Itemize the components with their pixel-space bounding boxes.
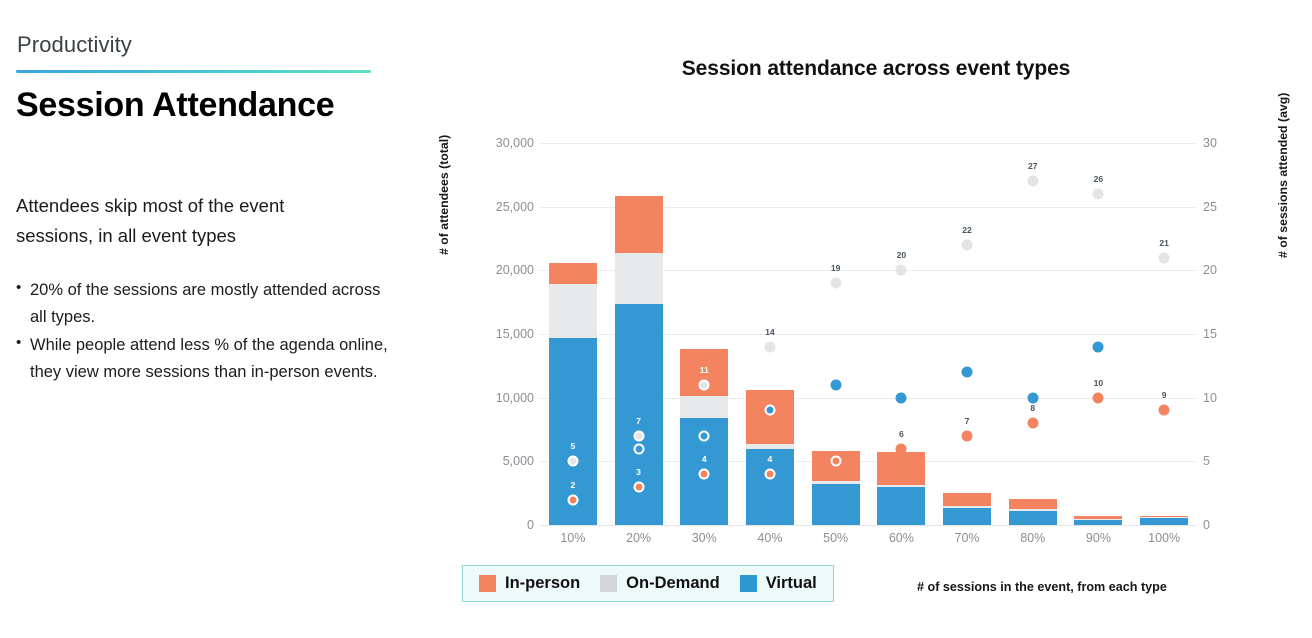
scatter-dot-in-person[interactable] [567,494,578,505]
y-axis-right-tick-label: 5 [1203,454,1210,468]
bar-segment-on-demand[interactable] [746,444,794,449]
x-axis-tick-label: 50% [823,531,848,545]
scatter-dot-in-person[interactable] [1159,405,1170,416]
scatter-value-label: 2 [570,480,575,490]
slide-left-panel: Productivity Session Attendance Attendee… [0,0,440,638]
legend-item-on-demand[interactable]: On-Demand [600,574,720,593]
bar-segment-in-person[interactable] [746,390,794,443]
scatter-dot-virtual[interactable] [962,367,973,378]
bar-segment-on-demand[interactable] [1140,517,1188,518]
slide-subheadline: Attendees skip most of the event session… [16,191,356,251]
bar-segment-virtual[interactable] [877,487,925,525]
bar-segment-in-person[interactable] [877,452,925,484]
scatter-value-label: 4 [768,454,773,464]
scatter-dot-virtual[interactable] [764,405,775,416]
scatter-dot-on-demand[interactable] [699,379,710,390]
bar-segment-in-person[interactable] [943,493,991,506]
scatter-dot-in-person[interactable] [830,456,841,467]
y-axis-left-tick-label: 30,000 [496,136,534,150]
chart-panel: Session attendance across event types # … [440,0,1312,638]
accent-rule-divider [16,70,371,73]
y-axis-right-tick-label: 0 [1203,518,1210,532]
x-axis-tick-label: 20% [626,531,651,545]
y-axis-left-ticks: 05,00010,00015,00020,00025,00030,000 [440,143,534,525]
bar-segment-on-demand[interactable] [680,396,728,418]
x-axis-tick-label: 60% [889,531,914,545]
chart-legend[interactable]: In-personOn-DemandVirtual [462,565,834,602]
legend-item-in-person[interactable]: In-person [479,574,580,593]
bar-segment-in-person[interactable] [1140,516,1188,517]
y-axis-right-tick-label: 10 [1203,391,1217,405]
y-axis-left-tick-label: 0 [527,518,534,532]
scatter-dot-in-person[interactable] [962,430,973,441]
scatter-dot-on-demand[interactable] [896,265,907,276]
scatter-dot-in-person[interactable] [633,481,644,492]
scatter-dot-virtual[interactable] [1027,392,1038,403]
scatter-dot-virtual[interactable] [699,430,710,441]
scatter-dot-in-person[interactable] [896,443,907,454]
scatter-dot-virtual[interactable] [633,443,644,454]
y-axis-right-tick-label: 30 [1203,136,1217,150]
scatter-value-label: 20 [897,250,907,260]
legend-swatch-icon [740,575,757,592]
bar-segment-on-demand[interactable] [812,481,860,484]
scatter-value-label: 10 [1094,378,1104,388]
scatter-dot-in-person[interactable] [764,469,775,480]
y-axis-right-title: # of sessions attended (avg) [1276,78,1290,258]
scatter-value-label: 7 [636,416,641,426]
y-axis-left-tick-label: 5,000 [503,454,534,468]
bar-segment-in-person[interactable] [549,263,597,284]
legend-swatch-icon [479,575,496,592]
bar-segment-on-demand[interactable] [1074,519,1122,520]
legend-item-label: On-Demand [626,574,720,593]
x-axis-tick-label: 100% [1148,531,1180,545]
scatter-series-note: # of sessions in the event, from each ty… [917,580,1167,594]
scatter-value-label: 4 [702,454,707,464]
stacked-bar[interactable] [812,143,860,525]
bar-segment-on-demand[interactable] [1009,509,1057,511]
x-axis-tick-label: 90% [1086,531,1111,545]
scatter-value-label: 26 [1094,174,1104,184]
scatter-dot-on-demand[interactable] [962,239,973,250]
legend-item-label: In-person [505,574,580,593]
bar-segment-virtual[interactable] [1074,520,1122,525]
bar-segment-virtual[interactable] [943,508,991,525]
stacked-bar[interactable] [943,143,991,525]
stacked-bar[interactable] [549,143,597,525]
stacked-bar[interactable] [1140,143,1188,525]
x-axis-tick-label: 30% [692,531,717,545]
legend-item-virtual[interactable]: Virtual [740,574,817,593]
bar-segment-on-demand[interactable] [549,284,597,337]
stacked-bar[interactable] [877,143,925,525]
bar-segment-on-demand[interactable] [615,253,663,305]
scatter-value-label: 3 [636,467,641,477]
x-axis-tick-label: 80% [1020,531,1045,545]
scatter-value-label: 27 [1028,161,1038,171]
y-axis-right-tick-label: 15 [1203,327,1217,341]
y-axis-left-tick-label: 20,000 [496,263,534,277]
bar-segment-in-person[interactable] [615,196,663,253]
page-title: Session Attendance [16,86,412,125]
bar-segment-on-demand[interactable] [943,506,991,508]
bar-segment-in-person[interactable] [1074,516,1122,519]
scatter-value-label: 19 [831,263,841,273]
scatter-dot-on-demand[interactable] [830,278,841,289]
gridline [540,525,1197,526]
scatter-value-label: 8 [1030,403,1035,413]
scatter-dot-in-person[interactable] [699,469,710,480]
scatter-dot-in-person[interactable] [1093,392,1104,403]
scatter-dot-on-demand[interactable] [1027,176,1038,187]
bar-segment-virtual[interactable] [812,484,860,525]
plot-area: 23445678109571114192022272621 10%20%30%4… [540,143,1197,525]
slide-eyebrow: Productivity [17,32,412,58]
scatter-dot-on-demand[interactable] [1159,252,1170,263]
scatter-value-label: 11 [700,365,709,375]
scatter-dot-virtual[interactable] [896,392,907,403]
x-axis-tick-label: 10% [560,531,585,545]
scatter-value-label: 5 [570,441,575,451]
y-axis-left-tick-label: 15,000 [496,327,534,341]
legend-swatch-icon [600,575,617,592]
y-axis-right-tick-label: 20 [1203,263,1217,277]
scatter-dot-virtual[interactable] [1093,341,1104,352]
bar-segment-virtual[interactable] [1009,511,1057,525]
scatter-value-label: 14 [765,327,775,337]
scatter-value-label: 5 [833,441,838,451]
chart-title: Session attendance across event types [440,57,1312,81]
list-item: While people attend less % of the agenda… [16,332,388,385]
stacked-bar[interactable] [1074,143,1122,525]
x-axis-tick-label: 40% [757,531,782,545]
scatter-dot-in-person[interactable] [1027,418,1038,429]
x-axis-tick-label: 70% [955,531,980,545]
scatter-dot-virtual[interactable] [830,379,841,390]
scatter-value-label: 22 [962,225,972,235]
list-item: 20% of the sessions are mostly attended … [16,277,388,330]
insight-bullet-list: 20% of the sessions are mostly attended … [16,277,388,385]
bar-segment-on-demand[interactable] [877,485,925,488]
y-axis-right-ticks: 051015202530 [1203,143,1243,525]
legend-item-label: Virtual [766,574,817,593]
scatter-value-label: 9 [1162,390,1167,400]
scatter-dot-on-demand[interactable] [764,341,775,352]
y-axis-right-tick-label: 25 [1203,200,1217,214]
scatter-dot-on-demand[interactable] [633,430,644,441]
scatter-dot-on-demand[interactable] [567,456,578,467]
scatter-value-label: 6 [899,429,904,439]
bar-segment-in-person[interactable] [1009,499,1057,509]
scatter-value-label: 7 [965,416,970,426]
y-axis-left-tick-label: 10,000 [496,391,534,405]
scatter-dot-on-demand[interactable] [1093,188,1104,199]
stacked-bar[interactable] [1009,143,1057,525]
scatter-value-label: 21 [1159,238,1169,248]
y-axis-left-tick-label: 25,000 [496,200,534,214]
bar-segment-virtual[interactable] [1140,518,1188,525]
